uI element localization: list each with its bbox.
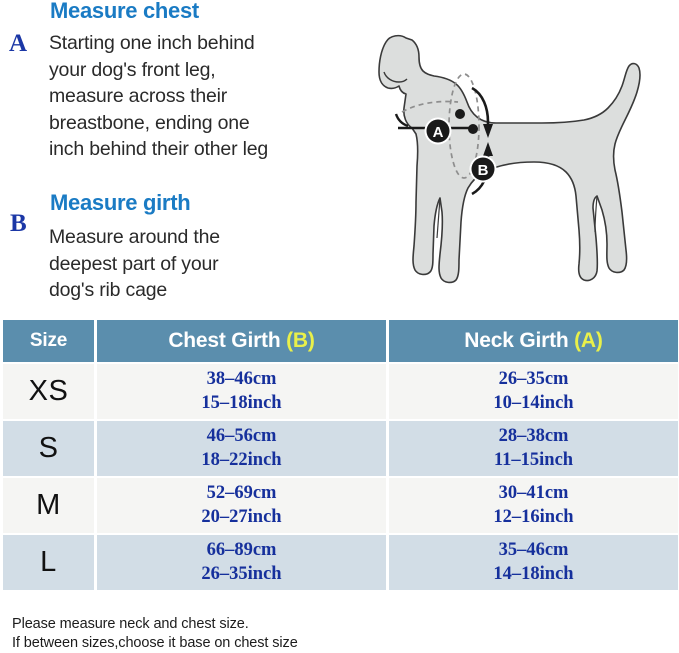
- cell-neck-girth: 28–38cm 11–15inch: [389, 421, 678, 476]
- cell-size: S: [3, 421, 94, 476]
- girth-heading: Measure girth: [50, 190, 190, 216]
- cell-chest-girth: 52–69cm 20–27inch: [97, 478, 386, 533]
- cell-neck-girth: 30–41cm 12–16inch: [389, 478, 678, 533]
- header-neck-girth-label: Neck Girth: [464, 329, 574, 352]
- chest-marker-letter: A: [9, 31, 27, 56]
- table-row: L 66–89cm 26–35inch 35–46cm 14–18inch: [3, 535, 678, 590]
- cell-neck-girth: 26–35cm 10–14inch: [389, 364, 678, 419]
- dog-body-path: [379, 36, 640, 283]
- chest-description: Starting one inch behind your dog's fron…: [49, 30, 369, 163]
- diagram-marker-a-label: A: [433, 124, 444, 141]
- hind-leg-divider: [595, 196, 597, 232]
- header-neck-girth: Neck Girth (A): [389, 320, 678, 362]
- girth-marker-letter: B: [10, 211, 27, 236]
- header-chest-girth: Chest Girth (B): [97, 320, 386, 362]
- table-row: S 46–56cm 18–22inch 28–38cm 11–15inch: [3, 421, 678, 476]
- cell-chest-girth: 38–46cm 15–18inch: [97, 364, 386, 419]
- cell-size: L: [3, 535, 94, 590]
- diagram-marker-b: B: [470, 156, 497, 183]
- footer-note: Please measure neck and chest size. If b…: [12, 615, 298, 653]
- cell-size: XS: [3, 364, 94, 419]
- header-chest-girth-tag: (B): [286, 329, 315, 352]
- table-header-row: Size Chest Girth (B) Neck Girth (A): [3, 320, 678, 362]
- table-row: XS 38–46cm 15–18inch 26–35cm 10–14inch: [3, 364, 678, 419]
- cell-size: M: [3, 478, 94, 533]
- cell-neck-girth: 35–46cm 14–18inch: [389, 535, 678, 590]
- table-row: M 52–69cm 20–27inch 30–41cm 12–16inch: [3, 478, 678, 533]
- size-chart-table: Size Chest Girth (B) Neck Girth (A) XS 3…: [0, 318, 679, 592]
- dog-diagram: A B: [376, 16, 676, 312]
- header-neck-girth-tag: (A): [574, 329, 603, 352]
- instructions-panel: Measure chest A Starting one inch behind…: [0, 0, 372, 318]
- diagram-marker-a: A: [425, 118, 452, 145]
- header-size: Size: [3, 320, 94, 362]
- diagram-marker-b-label: B: [478, 162, 489, 179]
- chest-point-dot-lower: [468, 124, 478, 134]
- header-chest-girth-label: Chest Girth: [168, 329, 286, 352]
- dog-silhouette-shape: [379, 36, 640, 283]
- chest-heading: Measure chest: [50, 0, 199, 24]
- size-chart-page: Measure chest A Starting one inch behind…: [0, 0, 679, 638]
- girth-description: Measure around the deepest part of your …: [49, 224, 349, 304]
- cell-chest-girth: 46–56cm 18–22inch: [97, 421, 386, 476]
- chest-point-dot-upper: [455, 109, 465, 119]
- cell-chest-girth: 66–89cm 26–35inch: [97, 535, 386, 590]
